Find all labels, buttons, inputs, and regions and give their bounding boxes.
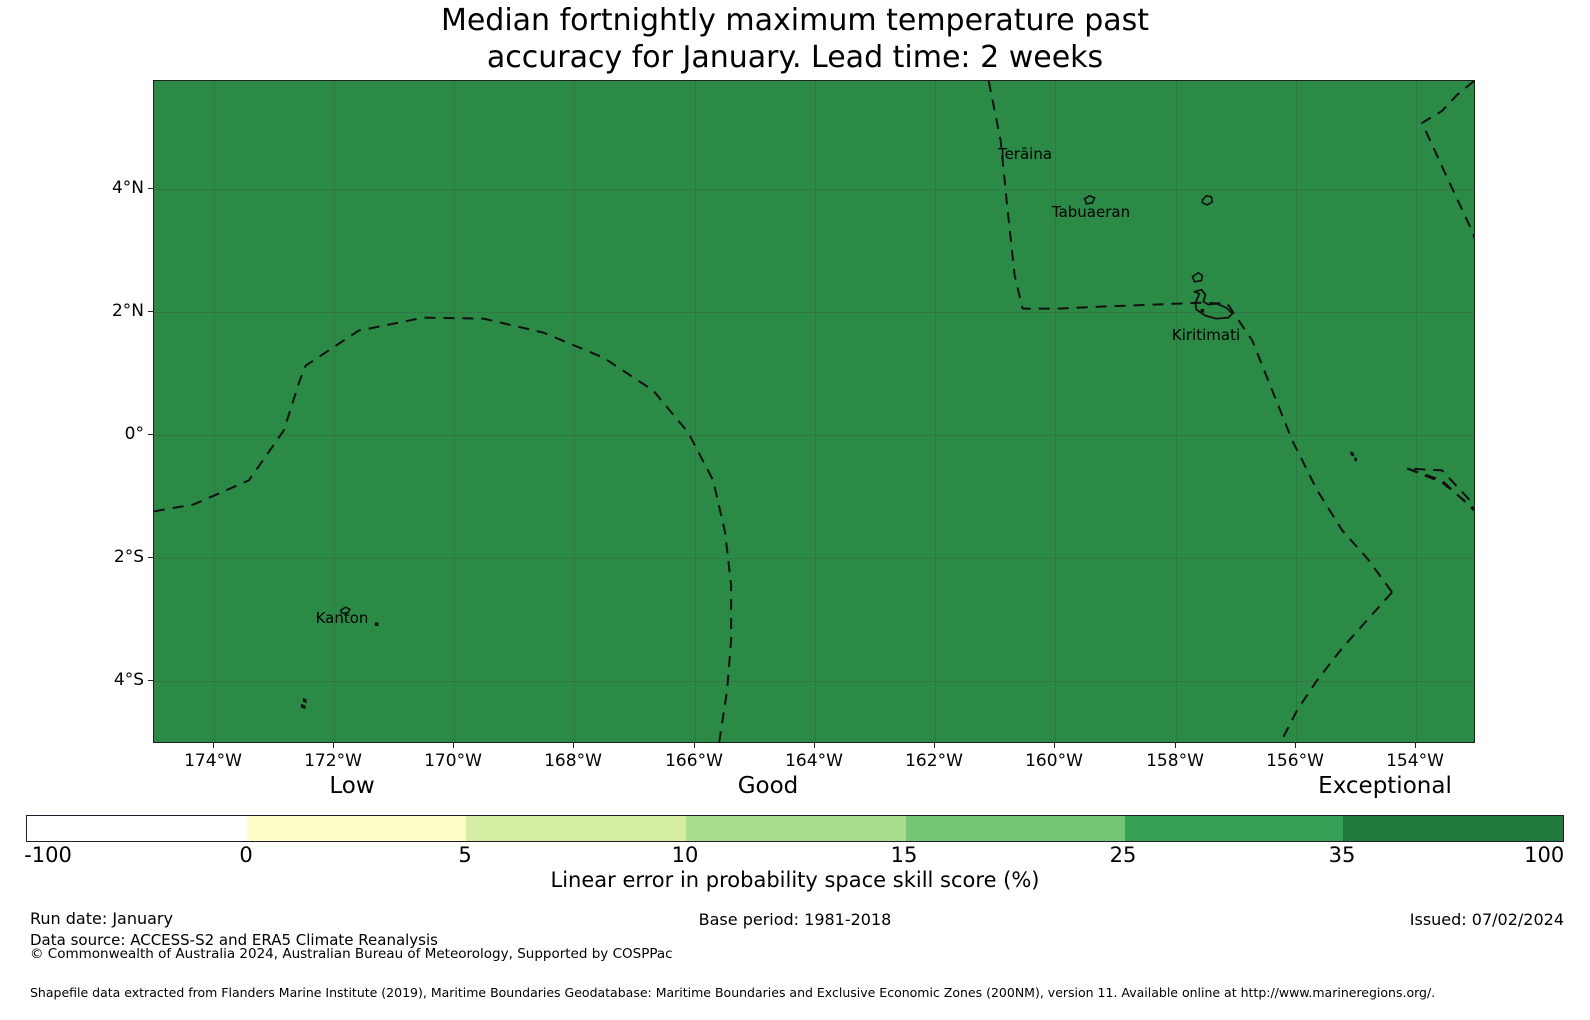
colorbar-segment-neg100-0 [27, 816, 247, 841]
footer-base-period: Base period: 1981-2018 [0, 910, 1590, 929]
xtick-label: 168°W [544, 751, 602, 771]
colorbar-tick-label: 5 [458, 843, 471, 867]
colorbar-tick-label: 15 [891, 843, 918, 867]
xtick-label: 170°W [424, 751, 482, 771]
colorbar-tick-label: 35 [1329, 843, 1356, 867]
ytick-label: 4°S [114, 670, 144, 690]
colorbar-tick-label: 25 [1110, 843, 1137, 867]
xtick-label: 162°W [905, 751, 963, 771]
footer-issued-date: Issued: 07/02/2024 [1410, 910, 1564, 929]
colorbar-tick-label: -100 [24, 843, 72, 867]
ytick-label: 0° [125, 424, 144, 444]
colorbar-category-good: Good [738, 773, 799, 799]
xtick-label: 160°W [1025, 751, 1083, 771]
xtick-mark [333, 743, 334, 748]
island-label-kanton: Kanton [316, 609, 369, 627]
xtick-mark [1175, 743, 1176, 748]
xtick-label: 164°W [785, 751, 843, 771]
xtick-label: 156°W [1266, 751, 1324, 771]
xtick-label: 154°W [1386, 751, 1444, 771]
xtick-mark [453, 743, 454, 748]
xtick-mark [1054, 743, 1055, 748]
xtick-label: 172°W [304, 751, 362, 771]
footer-shapefile-attribution: Shapefile data extracted from Flanders M… [30, 985, 1435, 1000]
ytick-label: 2°S [114, 547, 144, 567]
colorbar-tick-label: 0 [239, 843, 252, 867]
colorbar-category-low: Low [329, 773, 374, 799]
xtick-mark [1295, 743, 1296, 748]
island-label-teraina: Terāina [998, 145, 1052, 163]
colorbar-category-exceptional: Exceptional [1318, 773, 1452, 799]
xtick-label: 158°W [1146, 751, 1204, 771]
island-label-kiritimati: Kiritimati [1172, 326, 1240, 344]
xtick-mark [573, 743, 574, 748]
colorbar-tick-label: 10 [672, 843, 699, 867]
colorbar-segment-0-5 [247, 816, 467, 841]
page-title: Median fortnightly maximum temperature p… [0, 2, 1590, 76]
footer-copyright: © Commonwealth of Australia 2024, Austra… [30, 946, 673, 962]
colorbar[interactable] [26, 815, 1564, 842]
ytick-mark [148, 557, 153, 558]
ytick-mark [148, 188, 153, 189]
xtick-mark [934, 743, 935, 748]
colorbar-segment-35-100 [1343, 816, 1563, 841]
map-plot-area: Terāina Tabuaeran Kiritimati Kanton [153, 80, 1475, 743]
colorbar-segment-10-15 [686, 816, 906, 841]
ytick-mark [148, 434, 153, 435]
xtick-mark [213, 743, 214, 748]
ytick-label: 4°N [112, 178, 144, 198]
island-label-tabuaeran: Tabuaeran [1052, 203, 1130, 221]
xtick-mark [1415, 743, 1416, 748]
colorbar-axis-label: Linear error in probability space skill … [0, 868, 1590, 892]
ytick-label: 2°N [112, 301, 144, 321]
ytick-mark [148, 680, 153, 681]
colorbar-segment-5-10 [466, 816, 686, 841]
xtick-label: 174°W [184, 751, 242, 771]
ytick-mark [148, 311, 153, 312]
colorbar-segment-15-25 [906, 816, 1126, 841]
colorbar-tick-label: 100 [1524, 843, 1564, 867]
xtick-mark [694, 743, 695, 748]
xtick-label: 166°W [665, 751, 723, 771]
colorbar-segment-25-35 [1125, 816, 1343, 841]
xtick-mark [814, 743, 815, 748]
eez-boundary-layer [154, 81, 1474, 743]
